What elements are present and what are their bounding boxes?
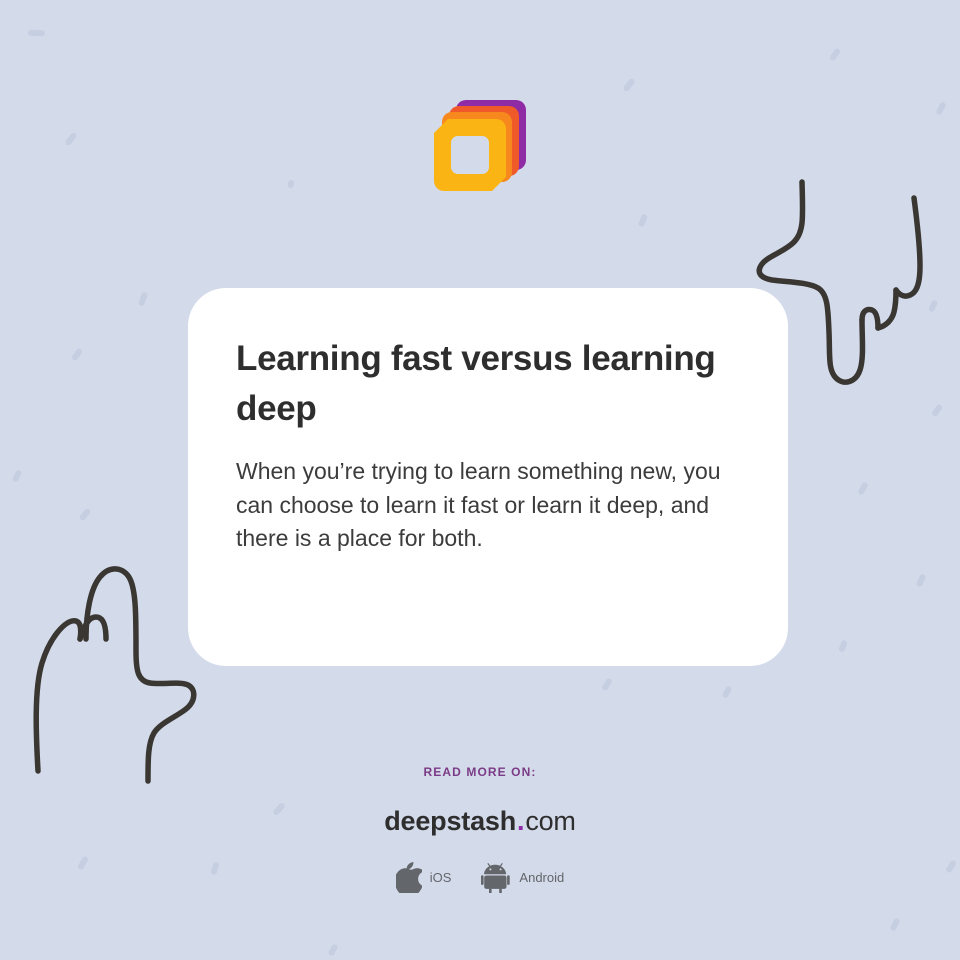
speckle [601, 677, 613, 691]
speckle [622, 78, 635, 93]
speckle [138, 291, 148, 306]
speckle [931, 403, 943, 417]
android-icon [481, 862, 511, 893]
app-store-badges: iOS Android [396, 862, 564, 893]
speckle [79, 508, 92, 522]
brand-dot: . [516, 806, 525, 837]
brand-name: deepstash [384, 806, 516, 837]
speckle [928, 299, 938, 312]
brand-tld: com [525, 806, 575, 837]
android-badge[interactable]: Android [481, 862, 564, 893]
footer: READ MORE ON: deepstash . com iOS [0, 765, 960, 893]
speckle [829, 47, 841, 61]
ios-label: iOS [430, 870, 452, 885]
ios-badge[interactable]: iOS [396, 862, 452, 893]
speckle [12, 469, 23, 482]
hand-pointing-up-illustration [20, 555, 210, 790]
apple-icon [396, 862, 422, 893]
logo-container [0, 100, 960, 192]
read-more-label: READ MORE ON: [424, 765, 537, 779]
brand-wordmark: deepstash . com [384, 806, 575, 837]
speckle [857, 481, 869, 495]
speckle [889, 917, 900, 931]
content-card: Learning fast versus learning deep When … [188, 288, 788, 666]
card-title: Learning fast versus learning deep [236, 334, 738, 433]
logo-inner-cutout [451, 136, 489, 174]
speckle [327, 943, 338, 956]
deepstash-logo-icon [434, 100, 526, 192]
speckle [838, 639, 848, 652]
android-label: Android [519, 870, 564, 885]
card-body-text: When you’re trying to learn something ne… [236, 455, 738, 555]
speckle [28, 30, 45, 37]
speckle [916, 573, 927, 587]
speckle [722, 685, 733, 698]
speckle [71, 347, 83, 361]
speckle [638, 213, 648, 227]
